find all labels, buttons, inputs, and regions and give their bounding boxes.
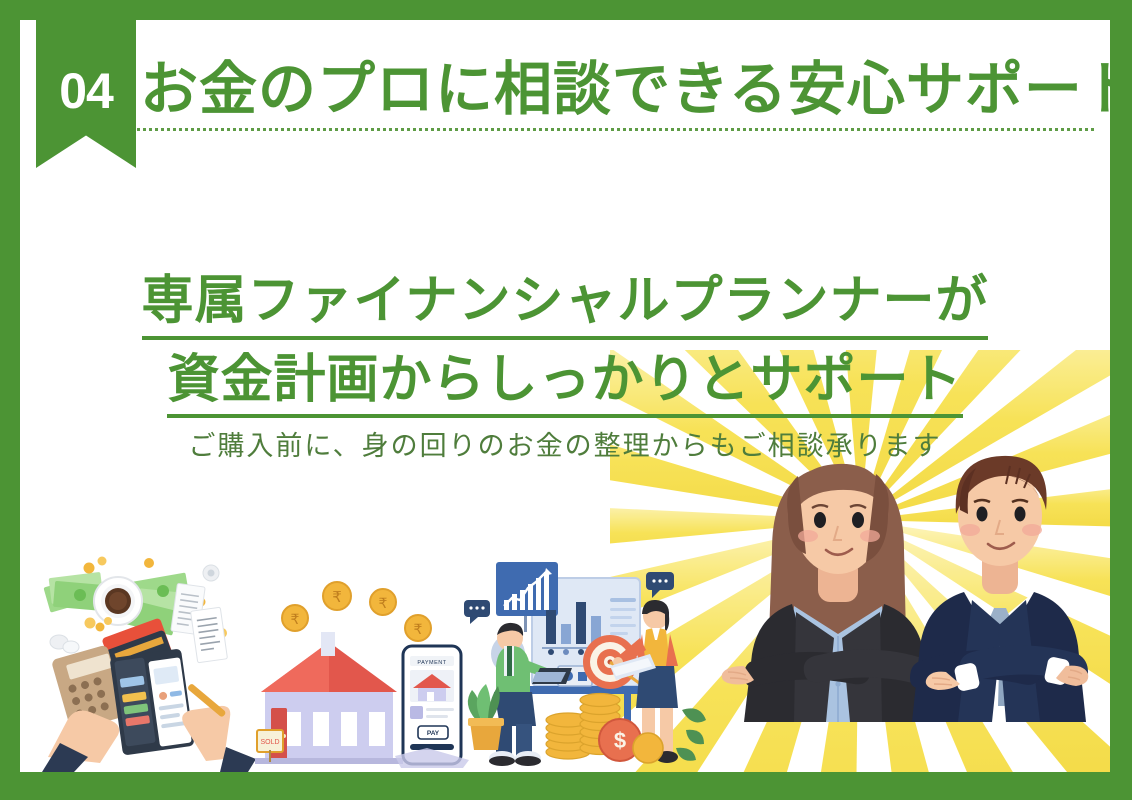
coffee-cup-icon xyxy=(94,577,142,625)
finance-flatlay-illustration xyxy=(34,547,284,772)
headline-line-1: 専属ファイナンシャルプランナーが xyxy=(142,268,989,340)
headline-block: 専属ファイナンシャルプランナーが 資金計画からしっかりとサポート xyxy=(20,268,1110,418)
illustration-band: ₹ ₹ ₹ ₹ xyxy=(20,422,1110,772)
house-payment-illustration: ₹ ₹ ₹ ₹ xyxy=(255,572,485,772)
subheadline: ご購入前に、身の回りのお金の整理からもご相談承ります xyxy=(20,424,1110,463)
svg-text:PAYMENT: PAYMENT xyxy=(417,660,446,666)
header-divider xyxy=(36,128,1094,131)
section-title: お金のプロに相談できる安心サポート xyxy=(140,60,1110,121)
male-advisor xyxy=(910,456,1088,722)
section-number-ribbon: 04 xyxy=(36,20,136,168)
smartphone-payment: PAYMENT PAY xyxy=(403,646,461,764)
svg-text:₹: ₹ xyxy=(332,588,342,606)
svg-text:PAY: PAY xyxy=(427,730,440,737)
svg-text:₹: ₹ xyxy=(379,596,388,612)
leaf-decor-icon xyxy=(676,708,706,760)
slide-canvas: 04 お金のプロに相談できる安心サポート 専属ファイナンシャルプランナーが 資金… xyxy=(20,20,1110,772)
svg-text:SOLD: SOLD xyxy=(260,739,279,746)
wallet-icon xyxy=(110,648,195,755)
svg-text:$: $ xyxy=(614,728,626,753)
analytics-team-illustration: $ xyxy=(460,542,710,772)
headline-line-2: 資金計画からしっかりとサポート xyxy=(167,347,962,419)
slide-root: 04 お金のプロに相談できる安心サポート 専属ファイナンシャルプランナーが 資金… xyxy=(0,0,1132,800)
advisors-illustration xyxy=(710,422,1110,772)
svg-text:₹: ₹ xyxy=(291,612,300,628)
section-number: 04 xyxy=(59,62,113,120)
rupee-coins-icon: ₹ ₹ ₹ ₹ xyxy=(282,582,431,641)
svg-text:₹: ₹ xyxy=(414,622,423,638)
